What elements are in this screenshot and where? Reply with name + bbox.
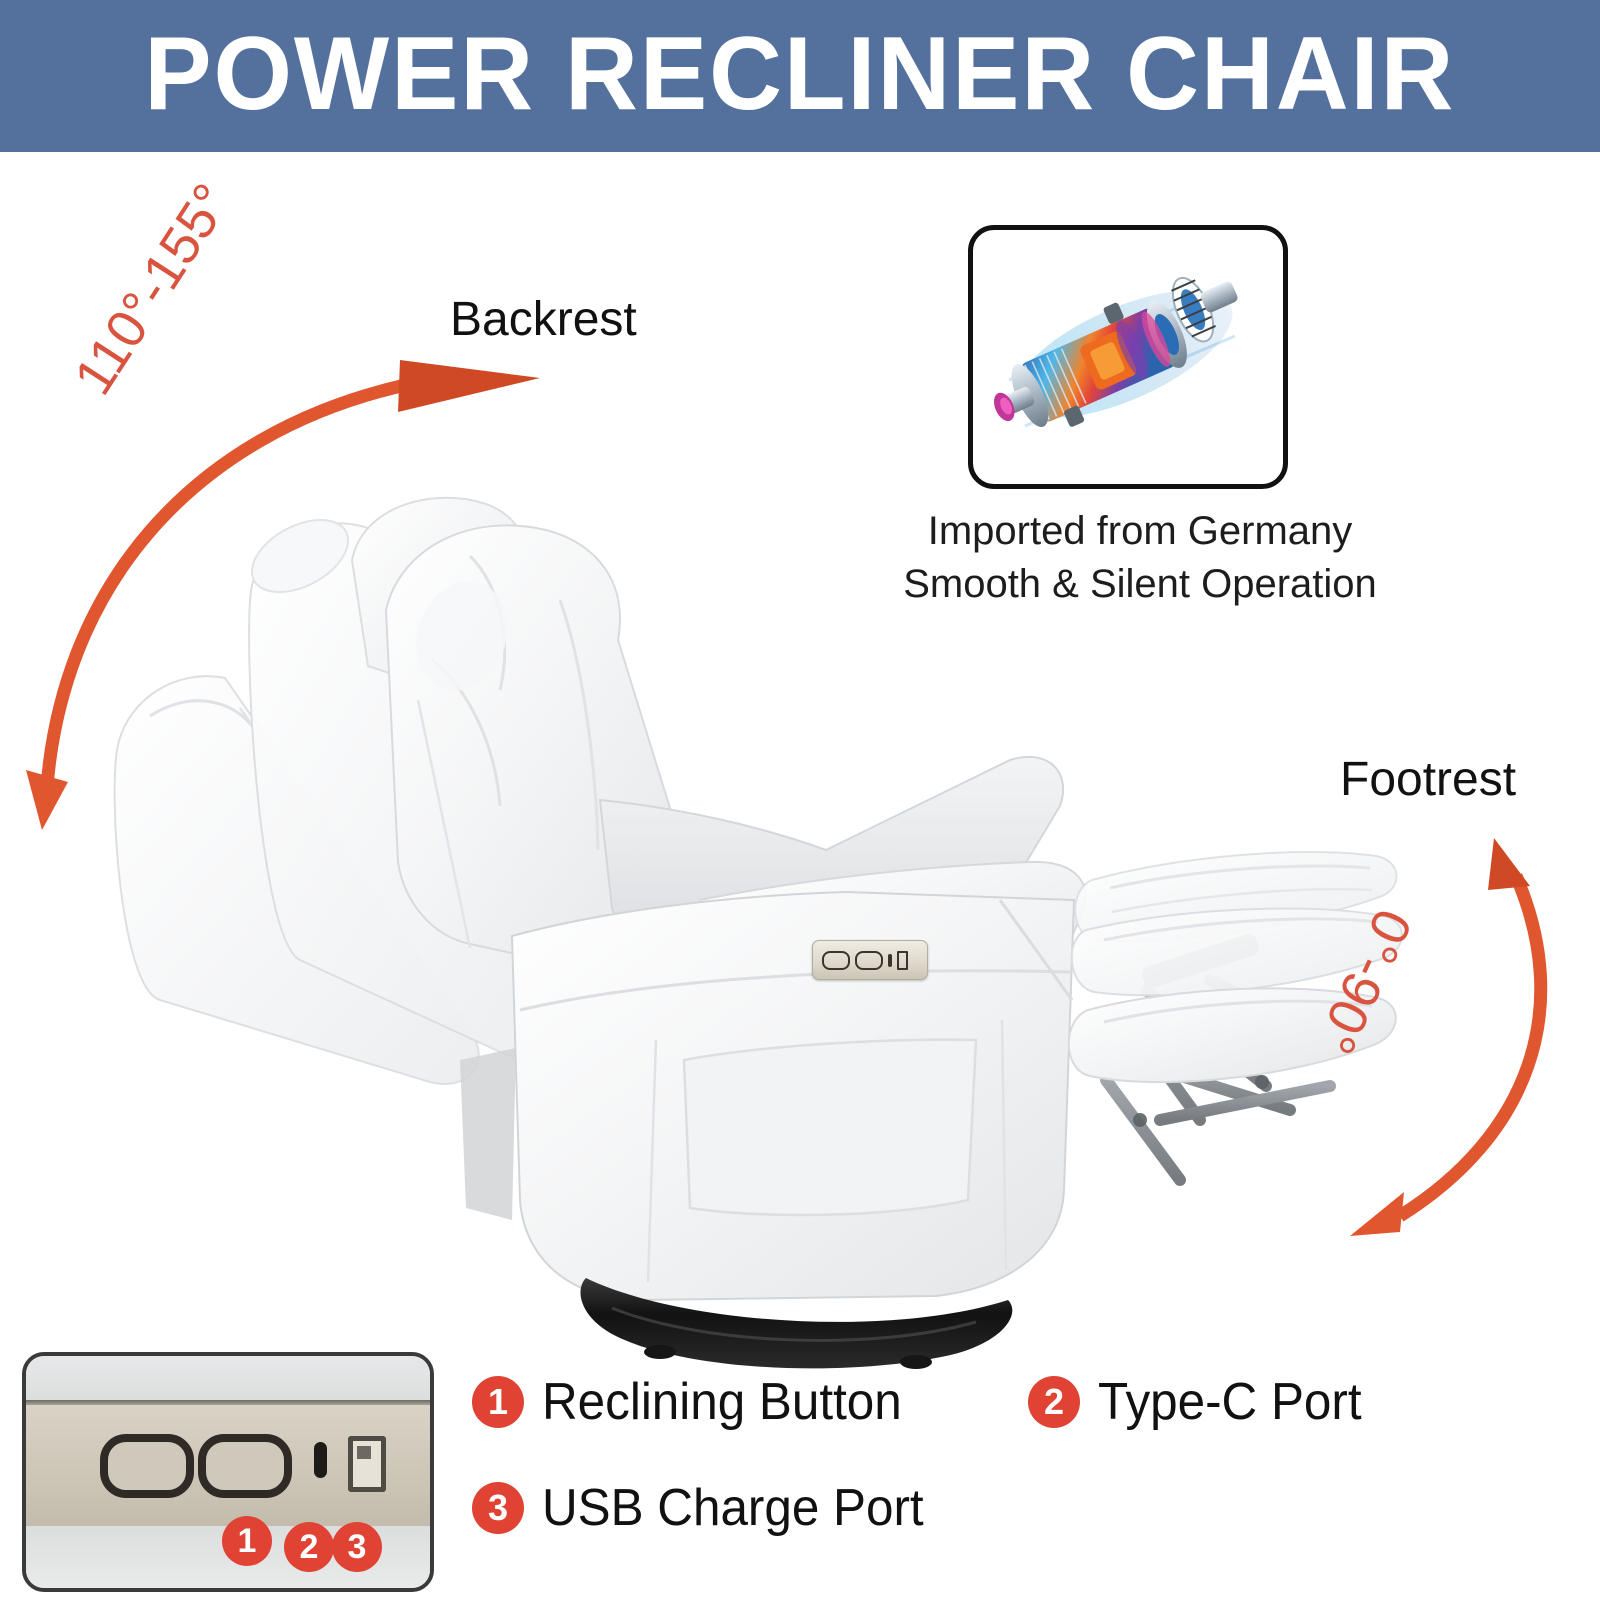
motor-caption-line-1: Imported from Germany — [880, 505, 1400, 558]
legend-label-3: USB Charge Port — [542, 1478, 924, 1538]
motor-image-box — [968, 225, 1288, 489]
legend-label-2: Type-C Port — [1098, 1372, 1362, 1432]
control-panel-closeup: 1 2 3 — [22, 1352, 434, 1592]
recline-button-up-icon[interactable] — [822, 951, 850, 970]
arm-control-panel[interactable] — [812, 940, 928, 980]
legend-item-type-c-port: 2 Type-C Port — [1028, 1372, 1375, 1432]
legend-badge-1: 1 — [472, 1376, 524, 1428]
motor-caption: Imported from Germany Smooth & Silent Op… — [880, 505, 1400, 611]
legend-badge-2: 2 — [1028, 1376, 1080, 1428]
inset-badge-2: 2 — [284, 1522, 334, 1572]
usb-port-closeup-icon — [348, 1436, 386, 1492]
electric-motor-icon — [973, 230, 1273, 474]
backrest-label: Backrest — [450, 292, 637, 347]
type-c-port-closeup-icon — [314, 1442, 327, 1478]
reclining-button-2-icon[interactable] — [198, 1434, 292, 1498]
recline-button-down-icon[interactable] — [855, 951, 883, 970]
footrest-label: Footrest — [1340, 752, 1516, 807]
type-c-port-icon — [888, 954, 892, 967]
motor-caption-line-2: Smooth & Silent Operation — [880, 558, 1400, 611]
legend-item-usb-charge-port: 3 USB Charge Port — [472, 1478, 944, 1538]
panel-fabric-top — [26, 1356, 430, 1402]
reclining-button-1-icon[interactable] — [100, 1434, 194, 1498]
legend-item-reclining-button: 1 Reclining Button — [472, 1372, 921, 1432]
inset-badge-1: 1 — [222, 1516, 272, 1566]
infographic-page: POWER RECLINER CHAIR — [0, 0, 1600, 1600]
usb-port-icon — [897, 951, 908, 970]
legend-badge-3: 3 — [472, 1482, 524, 1534]
inset-badge-3: 3 — [332, 1522, 382, 1572]
legend-label-1: Reclining Button — [542, 1372, 902, 1432]
